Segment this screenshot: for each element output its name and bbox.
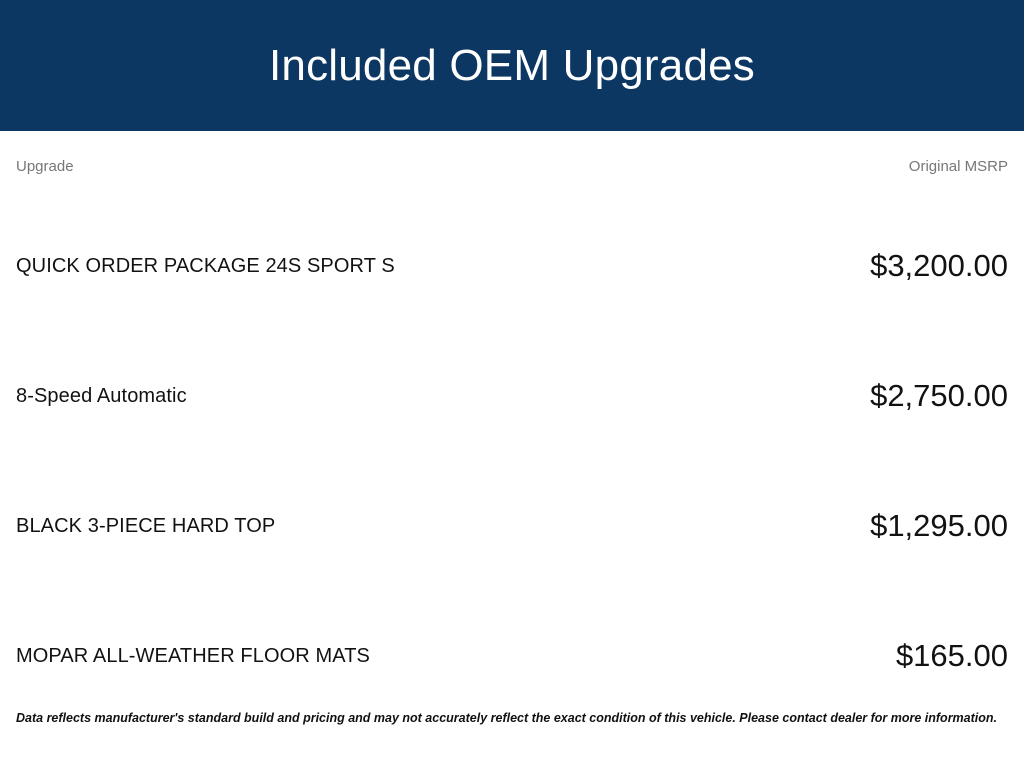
upgrades-table: Upgrade Original MSRP QUICK ORDER PACKAG… <box>16 131 1008 721</box>
table-row: 8-Speed Automatic $2,750.00 <box>16 331 1008 461</box>
table-header-row: Upgrade Original MSRP <box>16 131 1008 201</box>
upgrade-name: 8-Speed Automatic <box>16 331 631 461</box>
column-header-upgrade: Upgrade <box>16 131 631 201</box>
column-header-original-msrp: Original MSRP <box>631 131 1008 201</box>
upgrade-name: QUICK ORDER PACKAGE 24S SPORT S <box>16 201 631 331</box>
oem-upgrades-page: Included OEM Upgrades Upgrade Original M… <box>0 0 1024 768</box>
table-row: BLACK 3-PIECE HARD TOP $1,295.00 <box>16 461 1008 591</box>
table-body: QUICK ORDER PACKAGE 24S SPORT S $3,200.0… <box>16 201 1008 721</box>
page-title: Included OEM Upgrades <box>269 44 755 88</box>
upgrade-name: BLACK 3-PIECE HARD TOP <box>16 461 631 591</box>
upgrade-name: MOPAR ALL-WEATHER FLOOR MATS <box>16 591 631 721</box>
upgrades-table-container: Upgrade Original MSRP QUICK ORDER PACKAG… <box>0 131 1024 768</box>
upgrade-price: $1,295.00 <box>631 461 1008 591</box>
table-row: MOPAR ALL-WEATHER FLOOR MATS $165.00 <box>16 591 1008 721</box>
table-header: Upgrade Original MSRP <box>16 131 1008 201</box>
upgrade-price: $165.00 <box>631 591 1008 721</box>
disclaimer-text: Data reflects manufacturer's standard bu… <box>16 711 1008 726</box>
upgrade-price: $2,750.00 <box>631 331 1008 461</box>
table-row: QUICK ORDER PACKAGE 24S SPORT S $3,200.0… <box>16 201 1008 331</box>
upgrade-price: $3,200.00 <box>631 201 1008 331</box>
page-header-banner: Included OEM Upgrades <box>0 0 1024 131</box>
